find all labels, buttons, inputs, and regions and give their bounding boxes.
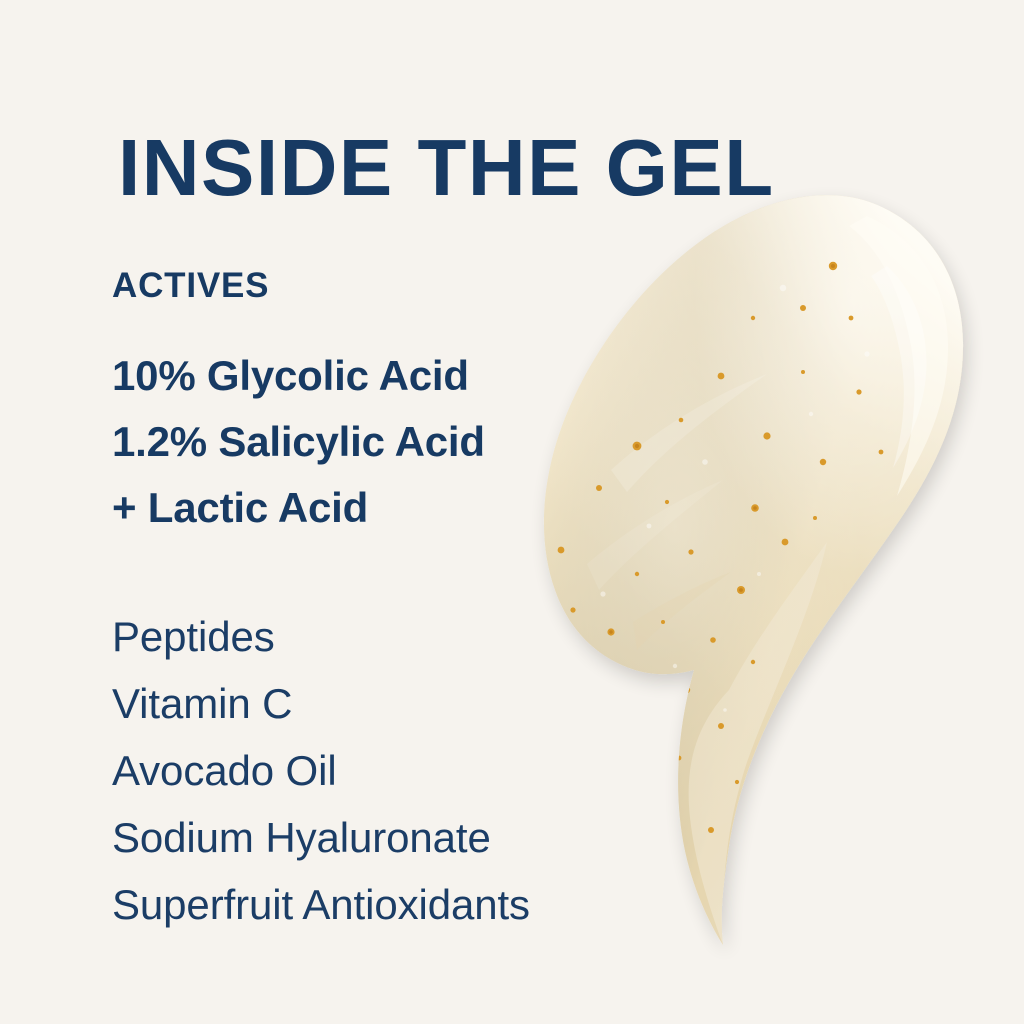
supporting-list-item: Avocado Oil [112, 737, 582, 804]
supporting-list-item: Superfruit Antioxidants [112, 871, 582, 938]
actives-list-item: 1.2% Salicylic Acid [112, 409, 582, 475]
actives-list-item: + Lactic Acid [112, 475, 582, 541]
page-title: INSIDE THE GEL [118, 124, 918, 212]
supporting-list-item: Vitamin C [112, 670, 582, 737]
gel-swatch-graphic [515, 170, 985, 980]
supporting-list-item: Peptides [112, 603, 582, 670]
actives-list-item: 10% Glycolic Acid [112, 343, 582, 409]
ingredients-column: ACTIVES 10% Glycolic Acid 1.2% Salicylic… [112, 265, 582, 938]
poster-canvas: INSIDE THE GEL ACTIVES 10% Glycolic Acid… [0, 0, 1024, 1024]
supporting-list-item: Sodium Hyaluronate [112, 804, 582, 871]
supporting-ingredients-list: Peptides Vitamin C Avocado Oil Sodium Hy… [112, 603, 582, 938]
actives-heading: ACTIVES [112, 265, 582, 307]
actives-list: 10% Glycolic Acid 1.2% Salicylic Acid + … [112, 343, 582, 541]
